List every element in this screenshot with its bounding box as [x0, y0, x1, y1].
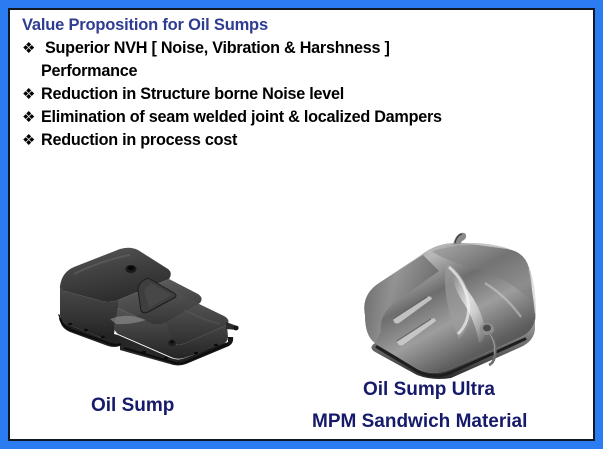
list-item: ❖ Reduction in Structure borne Noise lev…	[22, 83, 592, 106]
diamond-bullet-icon: ❖	[22, 129, 41, 152]
slide-frame: Value Proposition for Oil Sumps ❖ Superi…	[0, 0, 603, 449]
diamond-bullet-icon: ❖	[22, 37, 41, 60]
list-item: ❖ Reduction in process cost	[22, 129, 592, 152]
list-item: ❖ Elimination of seam welded joint & loc…	[22, 106, 592, 129]
page-title: Value Proposition for Oil Sumps	[22, 16, 268, 35]
list-item: ❖ Superior NVH [ Noise, Vibration & Hars…	[22, 37, 592, 60]
oil-sump-ultra-caption-line-2: MPM Sandwich Material	[312, 411, 527, 433]
oil-sump-caption: Oil Sump	[91, 395, 174, 417]
oil-sump-image	[48, 238, 248, 371]
value-proposition-list: ❖ Superior NVH [ Noise, Vibration & Hars…	[22, 37, 592, 152]
slide-canvas: Value Proposition for Oil Sumps ❖ Superi…	[10, 10, 593, 439]
list-item-label: Superior NVH [ Noise, Vibration & Harshn…	[41, 37, 592, 60]
list-item-label: Reduction in Structure borne Noise level	[41, 83, 592, 106]
slide-inner-border: Value Proposition for Oil Sumps ❖ Superi…	[8, 8, 595, 441]
diamond-bullet-icon: ❖	[22, 106, 41, 129]
list-item-continuation: Performance	[22, 60, 592, 83]
diamond-bullet-icon: ❖	[22, 83, 41, 106]
list-item-label: Elimination of seam welded joint & local…	[41, 106, 592, 129]
oil-sump-ultra-caption-line-1: Oil Sump Ultra	[363, 379, 495, 401]
list-item-label: Reduction in process cost	[41, 129, 592, 152]
oil-sump-ultra-image	[335, 223, 553, 381]
